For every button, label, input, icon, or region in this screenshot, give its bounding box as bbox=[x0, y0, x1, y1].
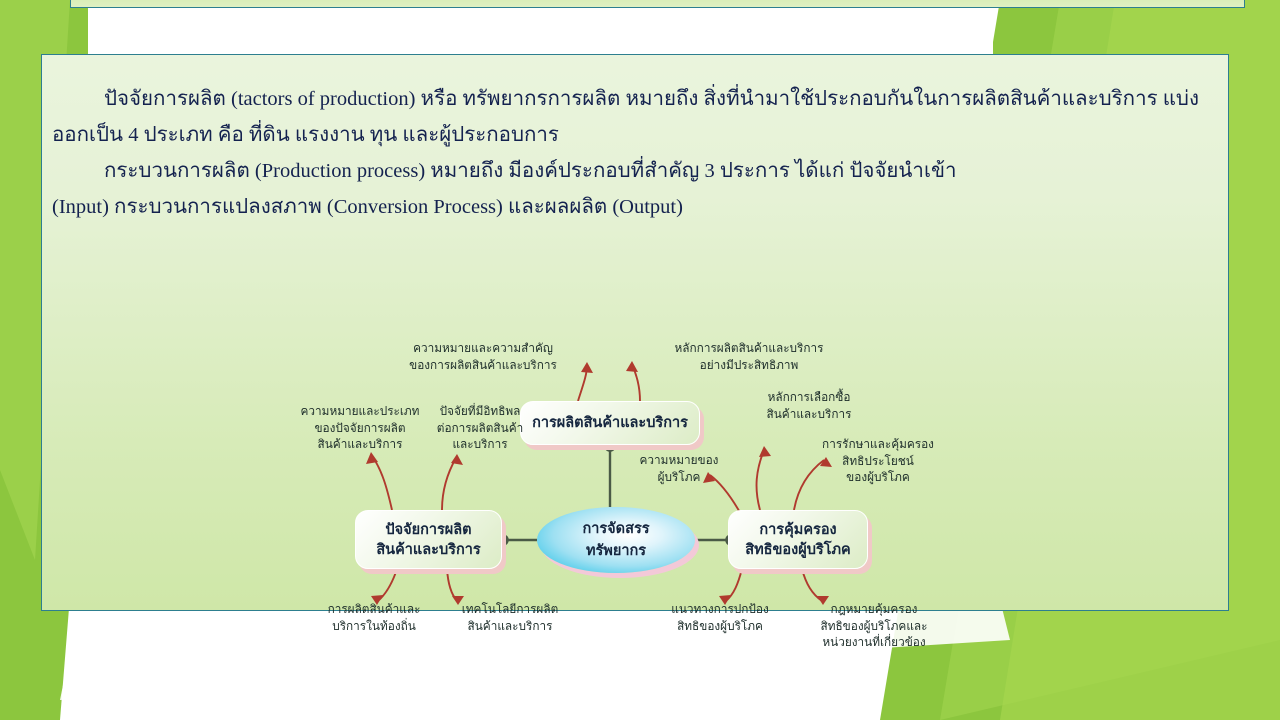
leaf-3-line-2: ของปัจจัยการผลิต bbox=[294, 420, 426, 437]
slide-stage: หัวข้อที่ ๔ การพัฒนาระบบการผลิต ปัจจัยกา… bbox=[0, 0, 1280, 720]
leaf-label-10: แนวทางการปกป้อง สิทธิของผู้บริโภค bbox=[642, 601, 798, 634]
leaf-4-line-2: ต่อการผลิตสินค้า bbox=[425, 420, 535, 437]
leaf-label-3: ความหมายและประเภท ของปัจจัยการผลิต สินค้… bbox=[294, 403, 426, 453]
leaf-11-line-1: กฎหมายคุ้มครอง bbox=[794, 601, 954, 618]
page-title: หัวข้อที่ ๔ การพัฒนาระบบการผลิต bbox=[70, 0, 1245, 8]
leaf-label-7: ความหมายของ ผู้บริโภค bbox=[627, 452, 731, 485]
leaf-label-2: หลักการผลิตสินค้าและบริการ อย่างมีประสิท… bbox=[660, 340, 838, 373]
page-title-primary: หัวข้อที่ ๔ bbox=[420, 0, 549, 2]
leaf-label-4: ปัจจัยที่มีอิทธิพล ต่อการผลิตสินค้า และบ… bbox=[425, 403, 535, 453]
leaf-3-line-1: ความหมายและประเภท bbox=[294, 403, 426, 420]
leaf-11-line-3: หน่วยงานที่เกี่ยวข้อง bbox=[794, 634, 954, 651]
leaf-10-line-2: สิทธิของผู้บริโภค bbox=[642, 618, 798, 635]
leaf-label-8: การผลิตสินค้าและ บริการในท้องถิ่น bbox=[304, 601, 444, 634]
leaf-4-line-3: และบริการ bbox=[425, 436, 535, 453]
leaf-8-line-2: บริการในท้องถิ่น bbox=[304, 618, 444, 635]
leaf-11-line-2: สิทธิของผู้บริโภคและ bbox=[794, 618, 954, 635]
node-consumer-rights-protection[interactable]: การคุ้มครอง สิทธิของผู้บริโภค bbox=[728, 510, 868, 569]
leaf-label-11: กฎหมายคุ้มครอง สิทธิของผู้บริโภคและ หน่ว… bbox=[794, 601, 954, 651]
node-right-line-2: สิทธิของผู้บริโภค bbox=[745, 540, 851, 560]
node-center-resource-allocation[interactable]: การจัดสรร ทรัพยากร bbox=[537, 507, 695, 573]
leaf-label-6: การรักษาและคุ้มครอง สิทธิประโยชน์ ของผู้… bbox=[810, 436, 946, 486]
header-white-card bbox=[88, 8, 993, 56]
leaf-2-line-2: อย่างมีประสิทธิภาพ bbox=[660, 357, 838, 374]
node-right-line-1: การคุ้มครอง bbox=[759, 520, 836, 540]
leaf-label-1: ความหมายและความสำคัญ ของการผลิตสินค้าและ… bbox=[394, 340, 572, 373]
leaf-10-line-1: แนวทางการปกป้อง bbox=[642, 601, 798, 618]
leaf-7-line-2: ผู้บริโภค bbox=[627, 469, 731, 486]
leaf-4-line-1: ปัจจัยที่มีอิทธิพล bbox=[425, 403, 535, 420]
leaf-2-line-1: หลักการผลิตสินค้าและบริการ bbox=[660, 340, 838, 357]
body-text-block: ปัจจัยการผลิต (tactors of production) หร… bbox=[52, 81, 1220, 225]
leaf-1-line-2: ของการผลิตสินค้าและบริการ bbox=[394, 357, 572, 374]
leaf-label-5: หลักการเลือกซื้อ สินค้าและบริการ bbox=[746, 389, 872, 422]
center-node-line-1: การจัดสรร bbox=[582, 518, 649, 540]
leaf-5-line-2: สินค้าและบริการ bbox=[746, 406, 872, 423]
node-production-factors[interactable]: ปัจจัยการผลิต สินค้าและบริการ bbox=[355, 510, 502, 569]
paragraph-1-line-2: ออกเป็น 4 ประเภท คือ ที่ดิน แรงงาน ทุน แ… bbox=[52, 117, 1220, 153]
node-production-goods-services[interactable]: การผลิตสินค้าและบริการ bbox=[520, 401, 700, 445]
leaf-7-line-1: ความหมายของ bbox=[627, 452, 731, 469]
leaf-6-line-3: ของผู้บริโภค bbox=[810, 469, 946, 486]
paragraph-2-line-1: กระบวนการผลิต (Production process) หมายถ… bbox=[52, 153, 1220, 189]
leaf-3-line-3: สินค้าและบริการ bbox=[294, 436, 426, 453]
leaf-8-line-1: การผลิตสินค้าและ bbox=[304, 601, 444, 618]
leaf-9-line-2: สินค้าและบริการ bbox=[446, 618, 574, 635]
leaf-5-line-1: หลักการเลือกซื้อ bbox=[746, 389, 872, 406]
paragraph-2-line-2: (Input) กระบวนการแปลงสภาพ (Conversion Pr… bbox=[52, 189, 1220, 225]
node-left-line-1: ปัจจัยการผลิต bbox=[385, 520, 471, 540]
leaf-1-line-1: ความหมายและความสำคัญ bbox=[394, 340, 572, 357]
leaf-6-line-1: การรักษาและคุ้มครอง bbox=[810, 436, 946, 453]
center-node-line-2: ทรัพยากร bbox=[586, 540, 646, 562]
mind-map-diagram: การผลิตสินค้าและบริการ ปัจจัยการผลิต สิน… bbox=[42, 270, 1230, 610]
node-top-line-1: การผลิตสินค้าและบริการ bbox=[532, 413, 688, 433]
paragraph-1-line-1: ปัจจัยการผลิต (tactors of production) หร… bbox=[52, 81, 1220, 117]
page-title-secondary: การพัฒนาระบบการผลิต bbox=[572, 0, 895, 2]
leaf-6-line-2: สิทธิประโยชน์ bbox=[810, 453, 946, 470]
node-left-line-2: สินค้าและบริการ bbox=[376, 540, 480, 560]
leaf-label-9: เทคโนโลยีการผลิต สินค้าและบริการ bbox=[446, 601, 574, 634]
content-panel: ปัจจัยการผลิต (tactors of production) หร… bbox=[41, 54, 1229, 611]
leaf-9-line-1: เทคโนโลยีการผลิต bbox=[446, 601, 574, 618]
